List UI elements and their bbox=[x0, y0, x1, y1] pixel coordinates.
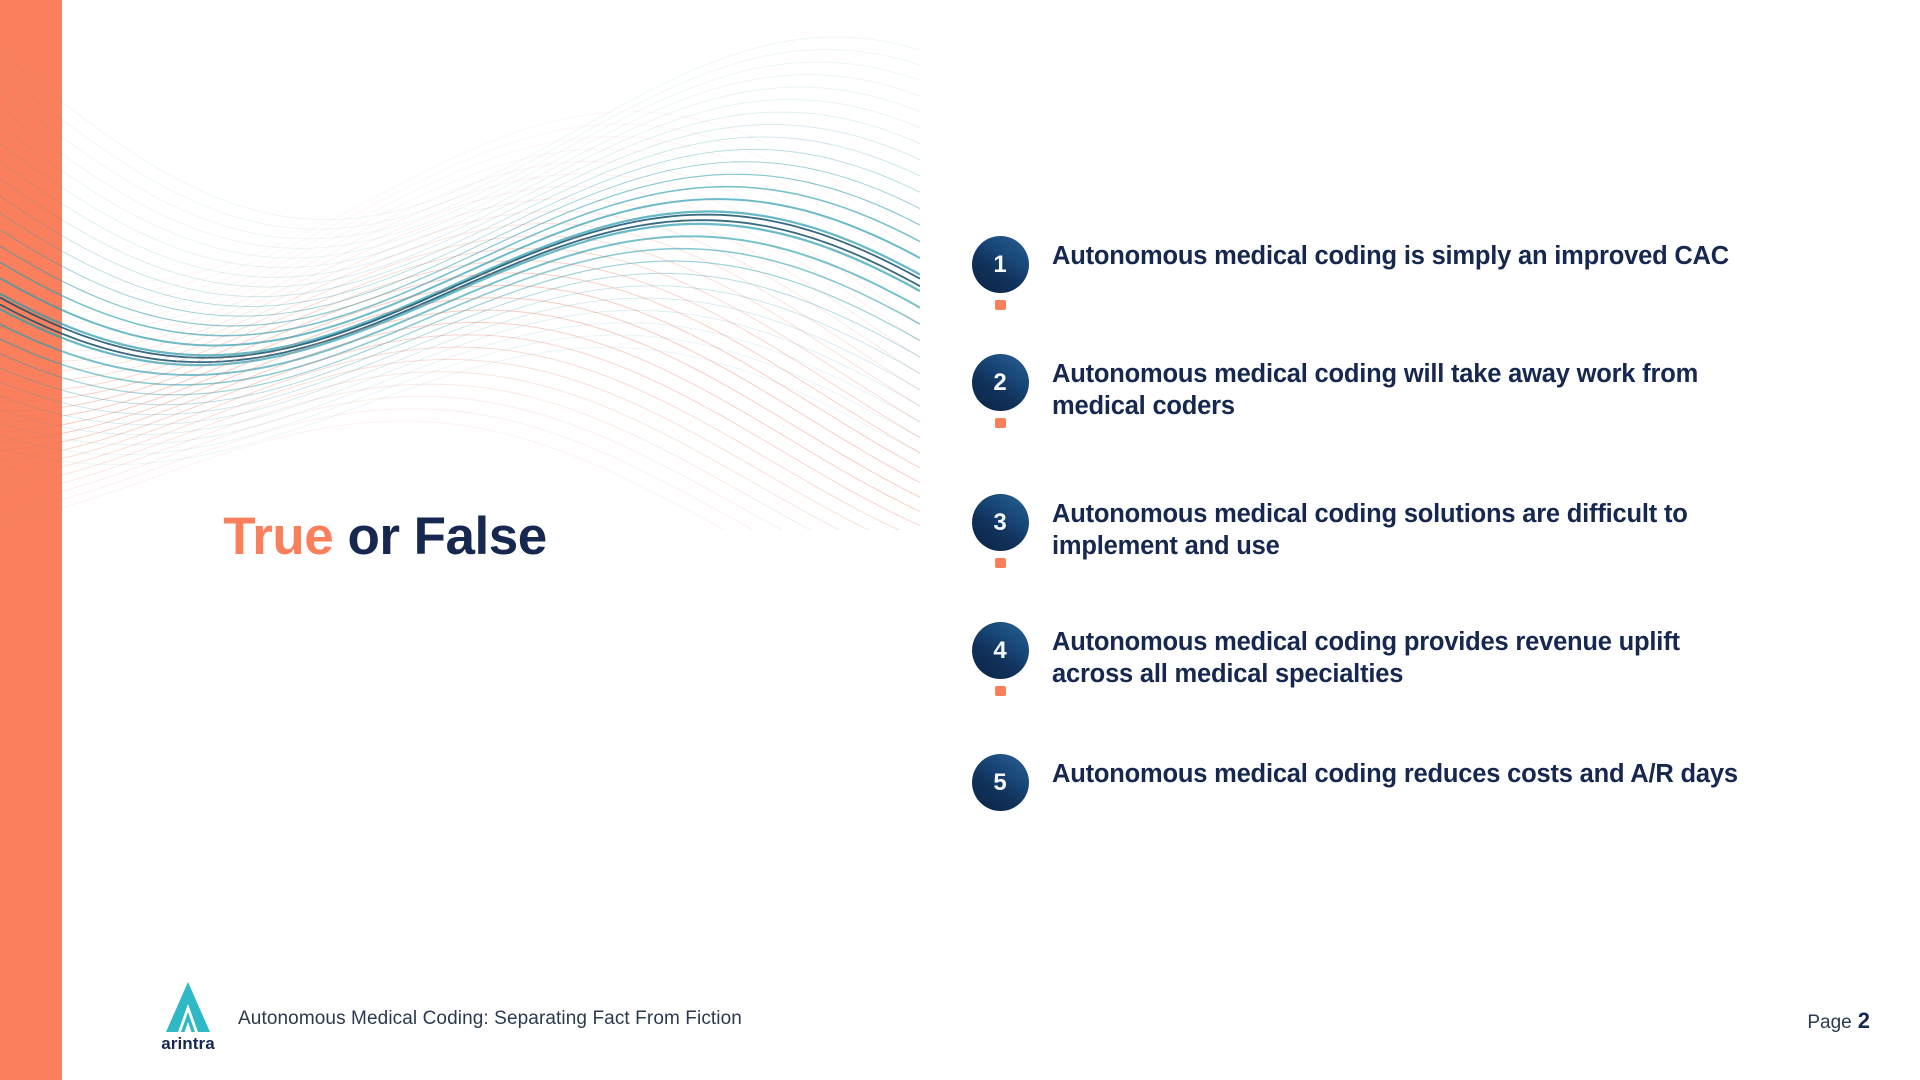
decorative-wave-graphic bbox=[0, 0, 920, 530]
step-marker: 3 bbox=[962, 494, 1038, 575]
step-text: Autonomous medical coding provides reven… bbox=[1038, 622, 1752, 690]
page-indicator: Page2 bbox=[1807, 1008, 1870, 1034]
page-label: Page bbox=[1807, 1012, 1851, 1033]
list-item[interactable]: 5 Autonomous medical coding reduces cost… bbox=[962, 754, 1862, 824]
arintra-a-mark-icon bbox=[152, 982, 224, 1032]
step-connector bbox=[995, 558, 1006, 568]
step-number-badge: 5 bbox=[972, 754, 1029, 811]
slide-canvas: True or False 1 Autonomous medical codin… bbox=[0, 0, 1920, 1080]
step-text: Autonomous medical coding will take away… bbox=[1038, 354, 1752, 422]
step-number-badge: 3 bbox=[972, 494, 1029, 551]
list-item[interactable]: 3 Autonomous medical coding solutions ar… bbox=[962, 494, 1862, 622]
step-number-badge: 1 bbox=[972, 236, 1029, 293]
arintra-logo: arintra bbox=[152, 982, 224, 1060]
step-text: Autonomous medical coding is simply an i… bbox=[1038, 236, 1729, 273]
headline-highlight: True bbox=[223, 507, 333, 566]
step-connector bbox=[995, 686, 1006, 696]
timeline-list: 1 Autonomous medical coding is simply an… bbox=[962, 236, 1862, 824]
step-marker: 1 bbox=[962, 236, 1038, 317]
step-number-badge: 2 bbox=[972, 354, 1029, 411]
page-number: 2 bbox=[1858, 1008, 1870, 1033]
page-title: True or False bbox=[0, 508, 770, 566]
step-marker: 2 bbox=[962, 354, 1038, 435]
list-item[interactable]: 2 Autonomous medical coding will take aw… bbox=[962, 354, 1862, 494]
step-number-badge: 4 bbox=[972, 622, 1029, 679]
step-connector bbox=[995, 418, 1006, 428]
step-text: Autonomous medical coding reduces costs … bbox=[1038, 754, 1738, 791]
list-item[interactable]: 1 Autonomous medical coding is simply an… bbox=[962, 236, 1862, 354]
step-text: Autonomous medical coding solutions are … bbox=[1038, 494, 1752, 562]
list-item[interactable]: 4 Autonomous medical coding provides rev… bbox=[962, 622, 1862, 754]
step-marker: 5 bbox=[962, 754, 1038, 811]
headline-rest: or False bbox=[333, 507, 546, 566]
arintra-wordmark: arintra bbox=[152, 1034, 224, 1054]
footer-deck-title: Autonomous Medical Coding: Separating Fa… bbox=[238, 1008, 742, 1030]
step-connector bbox=[995, 300, 1006, 310]
step-marker: 4 bbox=[962, 622, 1038, 703]
